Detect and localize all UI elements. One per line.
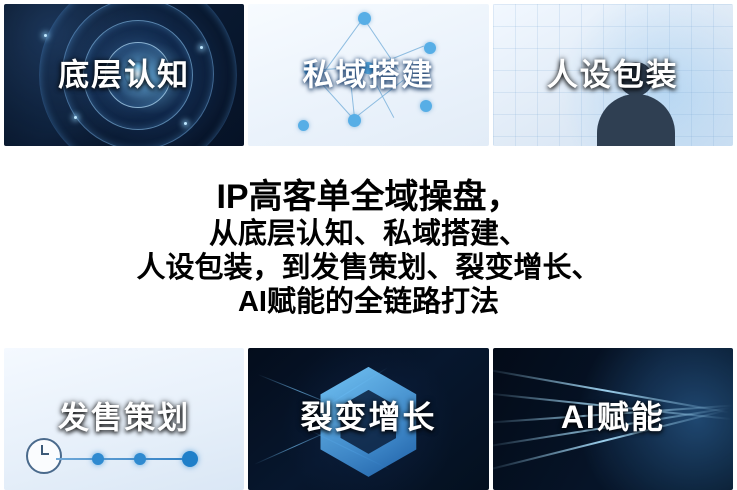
spark-icon — [200, 46, 203, 49]
top-image-row: 底层认知 私域搭建 人设包装 — [0, 4, 737, 146]
network-node — [420, 100, 432, 112]
tile-label-裂变增长: 裂变增长 — [248, 392, 488, 438]
spark-icon — [44, 34, 47, 37]
headline-line-3: 人设包装，到发售策划、裂变增长、 — [136, 251, 600, 285]
network-node — [298, 120, 309, 131]
spark-icon — [184, 122, 187, 125]
tile-label-人设包装: 人设包装 — [493, 50, 733, 95]
bottom-image-row: 发售策划 裂变增长 AI赋能 — [0, 348, 737, 490]
timeline-dot — [182, 451, 198, 467]
tile-AI赋能: AI赋能 — [493, 348, 733, 490]
clock-icon — [26, 438, 62, 474]
tile-人设包装: 人设包装 — [493, 4, 733, 146]
tile-label-发售策划: 发售策划 — [4, 392, 244, 437]
headline-block: IP高客单全域操盘， 从底层认知、私域搭建、 人设包装，到发售策划、裂变增长、 … — [0, 146, 737, 348]
tile-label-底层认知: 底层认知 — [4, 50, 244, 95]
timeline-line — [56, 458, 196, 460]
headline-line-2: 从底层认知、私域搭建、 — [209, 217, 528, 251]
poster-canvas: 底层认知 私域搭建 人设包装 IP高客单 — [0, 0, 737, 490]
network-node — [358, 12, 371, 25]
network-node — [348, 114, 361, 127]
timeline-dot — [134, 453, 146, 465]
headline-line-1: IP高客单全域操盘， — [216, 177, 520, 217]
tile-label-私域搭建: 私域搭建 — [248, 50, 488, 95]
headline-line-4: AI赋能的全链路打法 — [238, 285, 499, 319]
tile-底层认知: 底层认知 — [4, 4, 244, 146]
tile-label-AI赋能: AI赋能 — [493, 392, 733, 438]
tile-裂变增长: 裂变增长 — [248, 348, 488, 490]
tile-私域搭建: 私域搭建 — [248, 4, 488, 146]
timeline-dot — [92, 453, 104, 465]
spark-icon — [74, 116, 77, 119]
tile-发售策划: 发售策划 — [4, 348, 244, 490]
